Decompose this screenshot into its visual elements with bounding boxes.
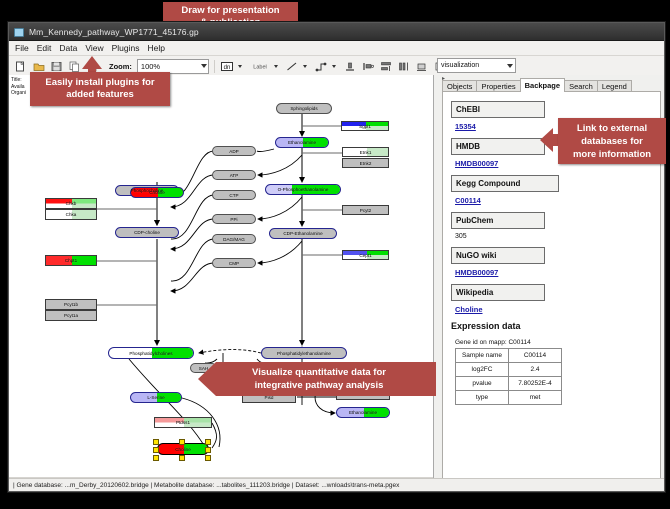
visualization-combobox[interactable]: visualization (437, 58, 516, 73)
toolbar-separator (214, 60, 215, 73)
node-label: Phosphatidylcholines (129, 351, 172, 356)
node-adp[interactable]: ADP (212, 146, 256, 156)
distribute-icon[interactable] (397, 59, 412, 74)
node-label: PPi (230, 217, 237, 222)
title-bar: Mm_Kennedy_pathway_WP1771_45176.gp (9, 23, 664, 41)
node-label: Chkb (66, 201, 77, 206)
node-label: L-Serine (147, 395, 164, 400)
node-label: Pcyt1b (64, 302, 78, 307)
section-nugo-wiki: NuGO wiki (451, 247, 545, 264)
menu-item-edit[interactable]: Edit (37, 43, 52, 53)
menu-item-plugins[interactable]: Plugins (112, 43, 140, 53)
zoom-value: 100% (141, 62, 160, 71)
kegg-link[interactable]: C00114 (455, 196, 660, 205)
app-icon (13, 26, 24, 37)
node-dag-mag[interactable]: DAG/MAG (212, 234, 256, 244)
section-wikipedia: Wikipedia (451, 284, 545, 301)
section-kegg-compound: Kegg Compound (451, 175, 559, 192)
menu-bar: File Edit Data View Plugins Help (9, 41, 664, 56)
screenshot-root: Draw for presentation & publication Mm_K… (0, 0, 670, 509)
node-label: ADP (229, 149, 238, 154)
status-text: | Gene database: ...m_Derby_20120602.bri… (13, 482, 399, 489)
node-o-phosphoethanolamine[interactable]: O-Phosphoethanolamine (265, 184, 341, 195)
section-hmdb: HMDB (451, 138, 545, 155)
node-sphingolipids[interactable]: Sphingolipids (276, 103, 332, 114)
node-chkb[interactable]: Chkb (45, 198, 97, 209)
wikipedia-link[interactable]: Choline (455, 305, 660, 314)
cell-key: Sample name (456, 349, 509, 363)
node-ppi[interactable]: PPi (212, 214, 256, 224)
width-icon[interactable] (415, 59, 430, 74)
node-chka[interactable]: Chka (45, 209, 97, 220)
align-top-icon[interactable] (343, 59, 358, 74)
align-left-icon[interactable] (361, 59, 376, 74)
line-icon[interactable] (285, 59, 300, 74)
callout-links-line1: Link to external (573, 122, 651, 135)
callout-link-external-databases: Link to external databases for more info… (558, 118, 666, 164)
callout-plugins-line1: Easily install plugins for (45, 77, 154, 89)
node-etnk1[interactable]: Etnk1 (342, 147, 389, 157)
node-label: Ethanolamine (288, 140, 316, 145)
node-cdp-choline[interactable]: CDP-choline (115, 227, 179, 238)
datanode-chevron-down-icon[interactable] (238, 65, 242, 68)
node-label: CTP (229, 193, 238, 198)
menu-item-data[interactable]: Data (59, 43, 77, 53)
tab-label: Search (569, 82, 593, 91)
node-label: DAG/MAG (223, 237, 245, 242)
window-title: Mm_Kennedy_pathway_WP1771_45176.gp (29, 27, 199, 37)
node-label: CDP-Ethanolamine (283, 231, 322, 236)
section-title: Kegg Compound (456, 179, 520, 188)
expression-table: Sample name C00114 log2FC 2.4 pvalue 7.8… (455, 348, 562, 405)
node-cdp-ethanolamine[interactable]: CDP-Ethanolamine (269, 228, 337, 239)
menu-item-view[interactable]: View (85, 43, 103, 53)
expression-data-header: Expression data (451, 321, 660, 331)
node-cmp[interactable]: CMP (212, 258, 256, 268)
node-label: Etnk2 (360, 161, 372, 166)
node-label: O-Phosphoethanolamine (278, 187, 329, 192)
node-ethanolamine-right[interactable]: Ethanolamine (336, 407, 390, 418)
node-label: CMP (229, 261, 239, 266)
node-pcyt2[interactable]: Pcyt2 (342, 205, 389, 215)
menu-item-file[interactable]: File (15, 43, 29, 53)
node-label: Chka (66, 212, 77, 217)
menu-item-help[interactable]: Help (148, 43, 165, 53)
node-pcyt1b[interactable]: Pcyt1b (45, 299, 97, 310)
nugo-link[interactable]: HMDB00097 (455, 268, 660, 277)
cell-value: met (509, 391, 562, 405)
visualization-value: visualization (441, 62, 479, 69)
node-label: Pcyt1a (64, 313, 78, 318)
datanode-icon[interactable]: dn (220, 59, 235, 74)
section-title: Wikipedia (456, 288, 493, 297)
node-phosphatidylcholines[interactable]: Phosphatidylcholines (108, 347, 194, 359)
node-cept1[interactable]: Cept1 (342, 250, 389, 260)
section-title: NuGO wiki (456, 251, 496, 260)
table-row: log2FC 2.4 (456, 363, 562, 377)
svg-text:dn: dn (224, 65, 231, 71)
node-label: Sphingolipids (290, 106, 317, 111)
cell-value: 2.4 (509, 363, 562, 377)
node-l-serine-left[interactable]: L-Serine (130, 392, 182, 403)
table-row: type met (456, 391, 562, 405)
node-label: Ethanolamine (349, 410, 377, 415)
cell-key: pvalue (456, 377, 509, 391)
table-row: Sample name C00114 (456, 349, 562, 363)
node-chpt1[interactable]: Chpt1 (45, 255, 97, 266)
node-label: Pcyt2 (360, 208, 372, 213)
connector-icon[interactable] (314, 59, 329, 74)
node-label: Phosphatidylethanolamine (277, 351, 331, 356)
side-panel-tabs: Objects Properties Backpage Search Legen… (442, 78, 662, 92)
chevron-down-icon[interactable] (201, 64, 207, 68)
node-ptdss1[interactable]: Ptdss1 (154, 417, 212, 428)
stack-icon[interactable] (379, 59, 394, 74)
node-sgpl1[interactable]: Sgpl1 (341, 121, 389, 131)
cell-key: log2FC (456, 363, 509, 377)
pathway-canvas[interactable]: Title: Availa Organi (9, 75, 433, 473)
section-title: ChEBI (456, 105, 480, 114)
section-chebi: ChEBI (451, 101, 545, 118)
status-bar: | Gene database: ...m_Derby_20120602.bri… (9, 478, 664, 491)
callout-visualize-line2: integrative pathway analysis (252, 379, 386, 392)
node-label: Etnk1 (360, 150, 372, 155)
gene-id-line: Gene id on mapp: C00114 (455, 339, 660, 346)
chevron-down-icon[interactable] (507, 64, 513, 68)
callout-visualize-line1: Visualize quantitative data for (252, 366, 386, 379)
cell-key: type (456, 391, 509, 405)
callout-easily-install-plugins: Easily install plugins for added feature… (30, 72, 170, 106)
cell-value: C00114 (509, 349, 562, 363)
callout-plugins-line2: added features (45, 89, 154, 101)
line-chevron-down-icon[interactable] (303, 65, 307, 68)
section-title: PubChem (456, 216, 493, 225)
zoom-label: Zoom: (109, 62, 132, 71)
node-label: Chpt1 (65, 258, 77, 263)
callout-visualize-quantitative-data: Visualize quantitative data for integrat… (216, 362, 422, 396)
svg-text:Label: Label (253, 65, 266, 71)
label-icon[interactable]: Label (249, 59, 271, 74)
node-label: ATP (230, 173, 239, 178)
new-icon[interactable] (13, 59, 28, 74)
tab-label: Backpage (525, 81, 560, 90)
section-title: HMDB (456, 142, 480, 151)
node-pcyt1a[interactable]: Pcyt1a (45, 310, 97, 321)
section-pubchem: PubChem (451, 212, 545, 229)
tab-label: Objects (447, 82, 472, 91)
pathway-editor-pane: Title: Availa Organi (9, 75, 434, 491)
tab-label: Legend (602, 82, 627, 91)
node-label: Choline (175, 447, 191, 452)
node-label: Ptdss1 (176, 420, 190, 425)
node-label: Sgpl1 (359, 124, 371, 129)
node-label: Choline (149, 190, 165, 195)
pubchem-value: 305 (455, 233, 660, 240)
table-row: pvalue 7.80252E-4 (456, 377, 562, 391)
connector-chevron-down-icon[interactable] (332, 65, 336, 68)
cell-value: 7.80252E-4 (509, 377, 562, 391)
node-label: Cept1 (359, 253, 371, 258)
node-atp[interactable]: ATP (212, 170, 256, 180)
label-chevron-down-icon[interactable] (274, 65, 278, 68)
node-ctp[interactable]: CTP (212, 190, 256, 200)
callout-draw-line1: Draw for presentation (181, 5, 279, 17)
tab-label: Properties (481, 82, 515, 91)
node-label: CDP-choline (134, 230, 160, 235)
callout-links-line2: databases for (573, 135, 651, 148)
node-etnk2[interactable]: Etnk2 (342, 158, 389, 168)
node-ethanolamine-top[interactable]: Ethanolamine (275, 137, 329, 148)
tab-backpage[interactable]: Backpage (520, 78, 565, 92)
callout-links-line3: more information (573, 148, 651, 161)
